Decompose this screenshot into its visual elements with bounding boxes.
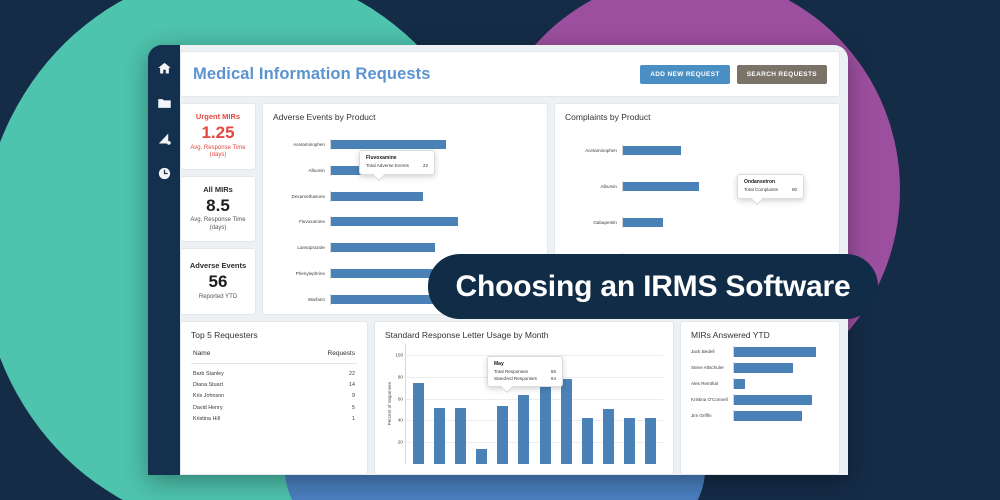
- panel-title: Complaints by Product: [565, 112, 829, 122]
- tooltip-title: Ondansetron: [744, 179, 797, 185]
- cell-name: Kristina Hill: [191, 413, 279, 424]
- panel-standard-response-letter-usage: Standard Response Letter Usage by Month …: [374, 321, 674, 475]
- analytics-icon[interactable]: [157, 131, 172, 146]
- bar-fill: [623, 182, 699, 191]
- table-row[interactable]: Kristina Hill1: [191, 413, 357, 424]
- bar-label: Albumin: [273, 168, 330, 173]
- kpi-title: All MIRs: [203, 186, 233, 194]
- column-header-name: Name: [191, 346, 279, 364]
- bar-label: Fluvoxamine: [273, 219, 330, 224]
- tooltip-value: 80: [792, 187, 797, 194]
- panel-mirs-answered-ytd: MIRs Answered YTD Jack BedellSteve Altsc…: [680, 321, 840, 475]
- bar-fill: [331, 217, 458, 226]
- kpi-value: 56: [209, 271, 228, 292]
- bar-fill: [734, 395, 812, 405]
- tooltip-value: 64: [551, 376, 556, 383]
- bar-column[interactable]: [497, 406, 508, 464]
- bar-label: Acetaminophen: [565, 148, 622, 153]
- home-icon[interactable]: [157, 61, 172, 76]
- bar-track: [330, 216, 533, 227]
- kpi-subtitle: Avg. Response Time (days): [183, 217, 253, 232]
- kpi-title: Urgent MIRs: [196, 113, 240, 121]
- bar-column[interactable]: [645, 418, 656, 464]
- bar-label: Albumin: [565, 184, 622, 189]
- bar-row[interactable]: Lansoprazole: [273, 242, 533, 253]
- cell-name: Barb Stanley: [191, 364, 279, 380]
- folder-icon[interactable]: [157, 96, 172, 111]
- bar-fill: [734, 411, 802, 421]
- bar-track: [330, 139, 533, 150]
- dashboard-bottom-row: Top 5 Requesters Name Requests Barb Stan…: [180, 321, 840, 475]
- sidebar: [148, 45, 180, 475]
- tooltip-row: Total Complaints 80: [744, 187, 797, 194]
- y-tick-label: 60: [398, 396, 403, 401]
- table-row[interactable]: Kris Johnson9: [191, 391, 357, 402]
- panel-top-5-requesters: Top 5 Requesters Name Requests Barb Stan…: [180, 321, 368, 475]
- y-tick-label: 80: [398, 374, 403, 379]
- y-tick-label: 20: [398, 440, 403, 445]
- table-row[interactable]: Diana Stuart14: [191, 380, 357, 391]
- cell-name: Diana Stuart: [191, 380, 279, 391]
- bar-column[interactable]: [518, 395, 529, 464]
- bar-column[interactable]: [413, 383, 424, 464]
- y-tick-label: 100: [395, 352, 403, 357]
- clock-icon[interactable]: [157, 166, 172, 181]
- bar-column[interactable]: [603, 409, 614, 464]
- banner-title: Choosing an IRMS Software: [455, 270, 850, 304]
- cell-requests: 22: [279, 364, 357, 380]
- cell-requests: 14: [279, 380, 357, 391]
- tooltip-value: 22: [423, 163, 428, 170]
- bar-track: [733, 394, 829, 405]
- bar-track: [733, 346, 829, 357]
- kpi-card-all-mirs[interactable]: All MIRs 8.5 Avg. Response Time (days): [180, 176, 256, 243]
- bar-row[interactable]: Alex Reinthal: [691, 378, 829, 389]
- bar-fill: [331, 243, 435, 252]
- panel-title: Adverse Events by Product: [273, 112, 537, 122]
- tooltip-row: Total Responses 86: [494, 369, 556, 376]
- bar-column[interactable]: [434, 408, 445, 464]
- bar-label: Jim Griffin: [691, 413, 733, 418]
- mirs-answered-bar-chart: Jack BedellSteve AltschulerAlex Reinthal…: [691, 346, 829, 421]
- table-row[interactable]: Barb Stanley22: [191, 364, 357, 380]
- cell-requests: 1: [279, 413, 357, 424]
- tooltip-label: Standard Responses: [494, 376, 537, 383]
- cell-requests: 9: [279, 391, 357, 402]
- table-body: Barb Stanley22Diana Stuart14Kris Johnson…: [191, 364, 357, 425]
- bar-row[interactable]: Dexamethasone: [273, 191, 533, 202]
- add-new-request-button[interactable]: ADD NEW REQUEST: [640, 65, 730, 84]
- tooltip-title: May: [494, 361, 556, 367]
- kpi-value: 1.25: [201, 122, 234, 143]
- kpi-card-adverse-events[interactable]: Adverse Events 56 Reported YTD: [180, 248, 256, 315]
- tooltip-value: 86: [551, 369, 556, 376]
- search-requests-button[interactable]: SEARCH REQUESTS: [737, 65, 827, 84]
- bar-label: Alex Reinthal: [691, 381, 733, 386]
- bar-track: [330, 191, 533, 202]
- cell-name: David Henry: [191, 402, 279, 413]
- y-axis-ticks: 10080604020: [392, 344, 405, 464]
- page-header: Medical Information Requests ADD NEW REQ…: [180, 51, 840, 97]
- bar-track: [330, 242, 533, 253]
- tooltip-title: Fluvoxamine: [366, 155, 428, 161]
- bar-label: Kristina O'Connell: [691, 397, 733, 402]
- kpi-subtitle: Avg. Response Time (days): [183, 145, 253, 160]
- bar-row[interactable]: Jim Griffin: [691, 410, 829, 421]
- bar-column[interactable]: [624, 418, 635, 464]
- top-requesters-table: Name Requests Barb Stanley22Diana Stuart…: [191, 346, 357, 424]
- kpi-card-urgent-mirs[interactable]: Urgent MIRs 1.25 Avg. Response Time (day…: [180, 103, 256, 170]
- chart-tooltip-may: May Total Responses 86 Standard Response…: [487, 356, 563, 387]
- bar-row[interactable]: Gabapentin: [565, 217, 825, 228]
- header-actions: ADD NEW REQUEST SEARCH REQUESTS: [640, 65, 827, 84]
- bar-fill: [734, 347, 816, 357]
- column-header-requests: Requests: [279, 346, 357, 364]
- kpi-column: Urgent MIRs 1.25 Avg. Response Time (day…: [180, 103, 256, 315]
- bar-column[interactable]: [476, 449, 487, 464]
- bar-label: Gabapentin: [565, 220, 622, 225]
- overlay-banner: Choosing an IRMS Software: [428, 254, 878, 319]
- bar-track: [622, 145, 825, 156]
- bar-row[interactable]: Fluvoxamine: [273, 216, 533, 227]
- bar-label: Dexamethasone: [273, 194, 330, 199]
- bar-label: Phenylephrine: [273, 271, 330, 276]
- bar-fill: [734, 363, 793, 373]
- chart-tooltip-fluvoxamine: Fluvoxamine Total Adverse Events 22: [359, 150, 435, 175]
- table-row[interactable]: David Henry5: [191, 402, 357, 413]
- y-axis-label: Percent of responses: [385, 382, 392, 425]
- bar-label: Lansoprazole: [273, 245, 330, 250]
- table-header-row: Name Requests: [191, 346, 357, 364]
- kpi-title: Adverse Events: [190, 262, 246, 270]
- bar-column[interactable]: [540, 379, 551, 464]
- bar-fill: [734, 379, 745, 389]
- panel-title: Standard Response Letter Usage by Month: [385, 330, 663, 340]
- bar-row[interactable]: Kristina O'Connell: [691, 394, 829, 405]
- bar-row[interactable]: Acetaminophen: [273, 139, 533, 150]
- bar-column[interactable]: [582, 418, 593, 464]
- bar-row[interactable]: Jack Bedell: [691, 346, 829, 357]
- y-tick-label: 40: [398, 418, 403, 423]
- chart-tooltip-ondansetron: Ondansetron Total Complaints 80: [737, 174, 804, 199]
- cell-requests: 5: [279, 402, 357, 413]
- bar-fill: [331, 140, 446, 149]
- bar-track: [733, 362, 829, 373]
- panel-title: Top 5 Requesters: [191, 330, 357, 340]
- kpi-value: 8.5: [206, 195, 230, 216]
- tooltip-label: Total Responses: [494, 369, 528, 376]
- bar-row[interactable]: Acetaminophen: [565, 145, 825, 156]
- tooltip-label: Total Complaints: [744, 187, 778, 194]
- tooltip-label: Total Adverse Events: [366, 163, 409, 170]
- bar-label: Acetaminophen: [273, 142, 330, 147]
- page-title: Medical Information Requests: [193, 65, 431, 84]
- bar-track: [733, 410, 829, 421]
- bar-label: Steve Altschuler: [691, 365, 733, 370]
- bar-label: Jack Bedell: [691, 349, 733, 354]
- bar-track: [622, 217, 825, 228]
- bar-row[interactable]: Steve Altschuler: [691, 362, 829, 373]
- bar-fill: [331, 192, 423, 201]
- cell-name: Kris Johnson: [191, 391, 279, 402]
- panel-title: MIRs Answered YTD: [691, 330, 829, 340]
- bar-fill: [623, 146, 681, 155]
- bar-column[interactable]: [561, 379, 572, 464]
- bar-fill: [623, 218, 663, 227]
- bar-label: Warfarin: [273, 297, 330, 302]
- bar-track: [733, 378, 829, 389]
- bar-column[interactable]: [455, 408, 466, 464]
- kpi-subtitle: Reported YTD: [199, 294, 237, 302]
